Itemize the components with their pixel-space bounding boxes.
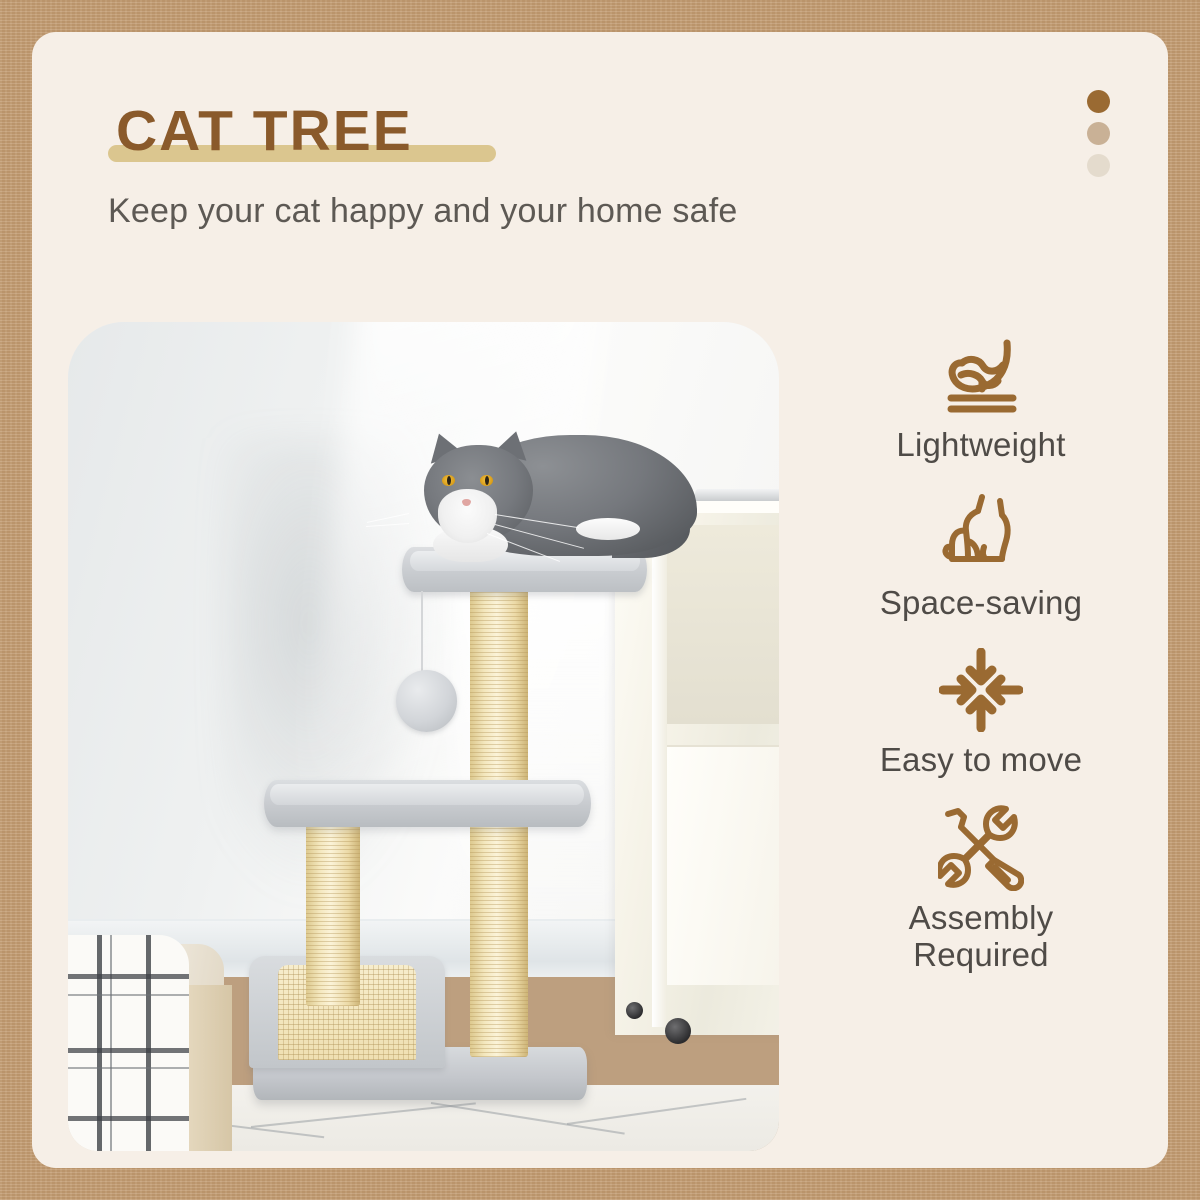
page-title: CAT TREE — [116, 100, 413, 164]
feature-label-assembly-required: Assembly Required — [909, 899, 1054, 974]
cat-hind-paw-patch — [576, 518, 640, 540]
page-title-wrapper: CAT TREE — [108, 100, 421, 170]
photo-cabinet-caster-rear — [626, 1002, 643, 1019]
feather-icon — [935, 332, 1027, 418]
feature-item-space-saving: Space-saving — [822, 490, 1140, 622]
compress-arrows-icon — [939, 647, 1023, 733]
photo-plaid-blanket — [68, 935, 189, 1151]
photo-cabinet-open-shelf — [665, 525, 779, 724]
photo-cabinet-front-edge — [652, 513, 666, 1027]
feature-item-lightweight: Lightweight — [822, 332, 1140, 464]
subtitle: Keep your cat happy and your home safe — [108, 192, 988, 231]
outer-frame: CAT TREE Keep your cat happy and your ho… — [0, 0, 1200, 1200]
feature-label-lightweight: Lightweight — [896, 426, 1065, 464]
photo-sofa-side-panel — [189, 985, 232, 1151]
cat-tree-sisal-post-short — [306, 824, 360, 1006]
photo-cabinet-drawer — [665, 745, 779, 985]
cat-pupil-left — [447, 476, 451, 485]
photo-laptop — [691, 489, 779, 501]
dot-icon-2 — [1087, 122, 1110, 145]
feature-label-space-saving: Space-saving — [880, 584, 1082, 622]
feature-label-easy-to-move: Easy to move — [880, 741, 1082, 779]
cat-tree-pompom-ball — [396, 670, 457, 731]
sitting-cat-icon — [938, 490, 1024, 576]
decorative-dots — [1087, 90, 1110, 177]
dot-icon-1 — [1087, 90, 1110, 113]
cat-tree-pompom-string — [421, 591, 423, 672]
feature-item-easy-to-move: Easy to move — [822, 647, 1140, 779]
wrench-screwdriver-icon — [938, 805, 1024, 891]
header: CAT TREE Keep your cat happy and your ho… — [108, 100, 988, 231]
dot-icon-3 — [1087, 154, 1110, 177]
cat-tree-middle-platform — [264, 780, 591, 826]
product-photo — [68, 322, 779, 1151]
feature-list: Lightweight S — [822, 332, 1140, 974]
infographic-card: CAT TREE Keep your cat happy and your ho… — [32, 32, 1168, 1168]
feature-item-assembly-required: Assembly Required — [822, 805, 1140, 974]
